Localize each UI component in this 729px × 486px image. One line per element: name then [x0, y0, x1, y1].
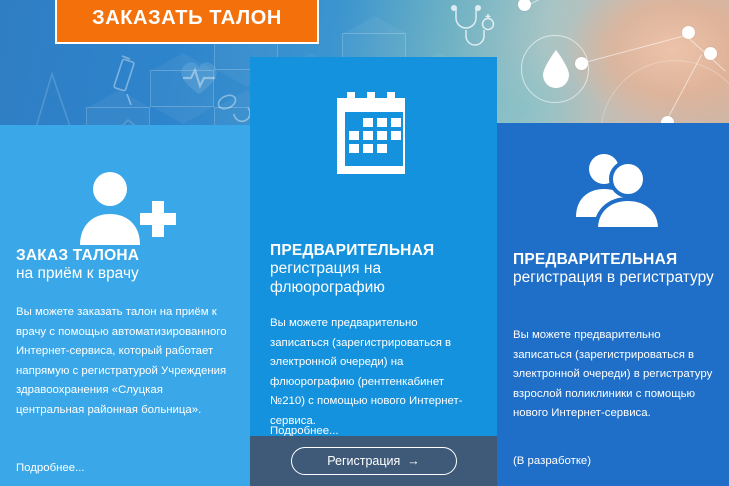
card-body-text: Вы можете предварительно записаться (зар… — [270, 314, 478, 432]
card-fluorography-registration[interactable]: ПРЕДВАРИТЕЛЬНАЯ регистрация на флюорогра… — [250, 57, 497, 486]
card-title-line2: регистрация в регистратуру — [513, 269, 714, 287]
card-title-line1: ЗАКАЗ ТАЛОНА — [16, 247, 139, 265]
registration-button[interactable]: Регистрация → — [291, 447, 457, 475]
stethoscope-icon — [440, 2, 510, 52]
registration-button-label: Регистрация — [327, 454, 400, 468]
card-body-text: Вы можете предварительно записаться (зар… — [513, 326, 717, 424]
card-title: ПРЕДВАРИТЕЛЬНАЯ регистрация на флюорогра… — [270, 242, 497, 297]
more-link[interactable]: Подробнее... — [16, 462, 85, 474]
page-root: ЗАКАЗАТЬ ТАЛОН ЗАКАЗ ТАЛОНА на приём к в… — [0, 0, 729, 486]
network-node — [575, 57, 588, 70]
card-body-text: Вы можете заказать талон на приём к врач… — [16, 303, 232, 421]
card-order-coupon[interactable]: ЗАКАЗ ТАЛОНА на приём к врачу Вы можете … — [0, 125, 250, 486]
users-group-icon — [570, 151, 666, 229]
card-footer: Регистрация → — [250, 436, 497, 486]
card-title-line2: на приём к врачу — [16, 265, 139, 283]
order-coupon-cta-button[interactable]: ЗАКАЗАТЬ ТАЛОН — [55, 0, 319, 44]
calendar-icon — [333, 90, 415, 178]
cta-label: ЗАКАЗАТЬ ТАЛОН — [92, 7, 282, 30]
card-title: ПРЕДВАРИТЕЛЬНАЯ регистрация в регистрату… — [513, 251, 714, 288]
syringe-icon — [104, 50, 144, 108]
network-node — [682, 26, 695, 39]
network-node — [704, 47, 717, 60]
card-reception-registration[interactable]: ПРЕДВАРИТЕЛЬНАЯ регистрация в регистрату… — [497, 123, 729, 486]
card-title-line2: регистрация на флюорографию — [270, 260, 497, 297]
card-title-line1: ПРЕДВАРИТЕЛЬНАЯ — [513, 251, 714, 269]
arrow-right-icon: → — [407, 454, 420, 468]
status-note: (В разработке) — [513, 455, 591, 467]
user-plus-icon — [72, 169, 180, 245]
water-drop-icon — [540, 48, 572, 90]
card-title-line1: ПРЕДВАРИТЕЛЬНАЯ — [270, 242, 497, 260]
card-title: ЗАКАЗ ТАЛОНА на приём к врачу — [16, 247, 139, 284]
